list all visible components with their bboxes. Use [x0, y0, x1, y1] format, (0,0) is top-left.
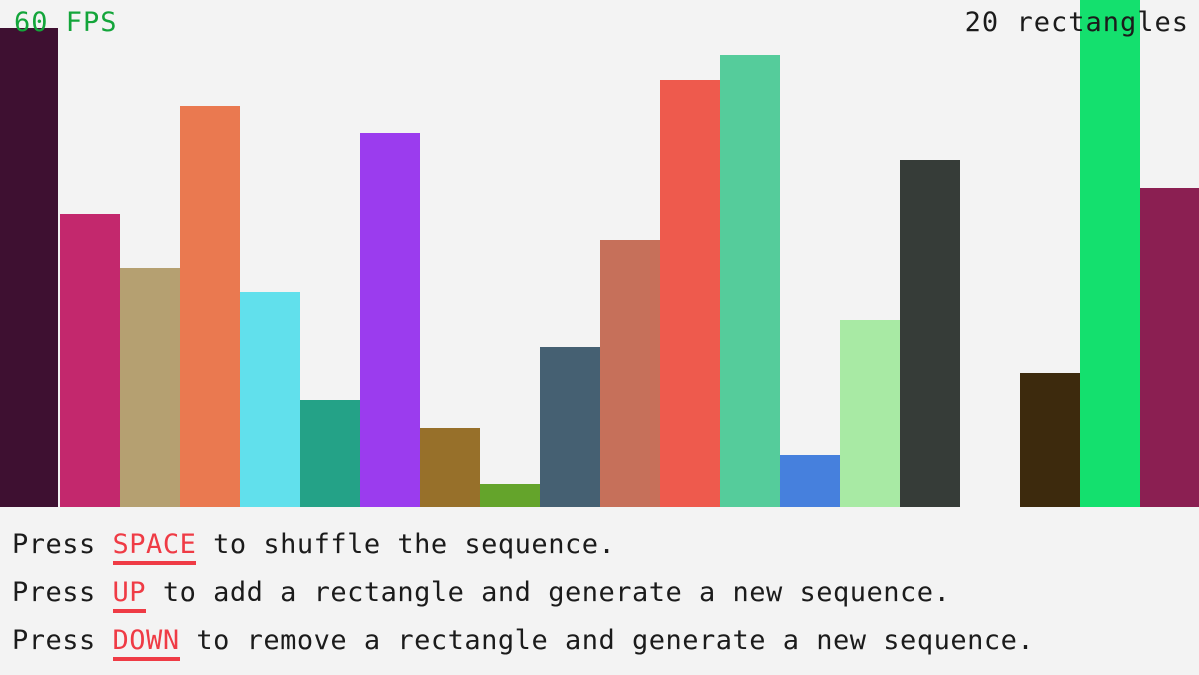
bar-15: [840, 320, 900, 507]
bar-11: [600, 240, 660, 507]
bar-18: [1020, 373, 1080, 507]
instruction-line-2: Press UP to add a rectangle and generate…: [12, 569, 1192, 617]
bar-3: [120, 268, 180, 507]
bar-chart-canvas: [0, 0, 1199, 512]
bar-16: [900, 160, 960, 507]
instruction-prefix: Press: [12, 529, 113, 560]
bar-19: [1080, 0, 1140, 507]
instruction-line-1: Press SPACE to shuffle the sequence.: [12, 521, 1192, 569]
bar-8: [420, 428, 480, 507]
bar-13: [720, 55, 780, 507]
bar-9: [480, 484, 540, 507]
instruction-suffix: to add a rectangle and generate a new se…: [146, 577, 950, 608]
key-hint-up[interactable]: UP: [113, 577, 147, 613]
bar-14: [780, 455, 840, 507]
bar-20: [1140, 188, 1199, 507]
key-hint-space[interactable]: SPACE: [113, 529, 197, 565]
instruction-suffix: to remove a rectangle and generate a new…: [180, 625, 1035, 656]
fps-counter: 60 FPS: [14, 9, 118, 36]
instruction-prefix: Press: [12, 577, 113, 608]
bar-4: [180, 106, 240, 507]
bar-2: [60, 214, 120, 507]
bar-1: [0, 28, 58, 507]
instruction-line-3: Press DOWN to remove a rectangle and gen…: [12, 617, 1192, 665]
app-root: 60 FPS 20 rectangles Press SPACE to shuf…: [0, 0, 1199, 675]
bar-7: [360, 133, 420, 507]
instruction-suffix: to shuffle the sequence.: [196, 529, 615, 560]
bar-12: [660, 80, 720, 507]
rectangle-count-label: 20 rectangles: [965, 9, 1189, 36]
instruction-prefix: Press: [12, 625, 113, 656]
bar-5: [240, 292, 300, 507]
bar-10: [540, 347, 600, 507]
instructions-panel: Press SPACE to shuffle the sequence.Pres…: [12, 521, 1192, 665]
bar-6: [300, 400, 360, 507]
key-hint-down[interactable]: DOWN: [113, 625, 180, 661]
